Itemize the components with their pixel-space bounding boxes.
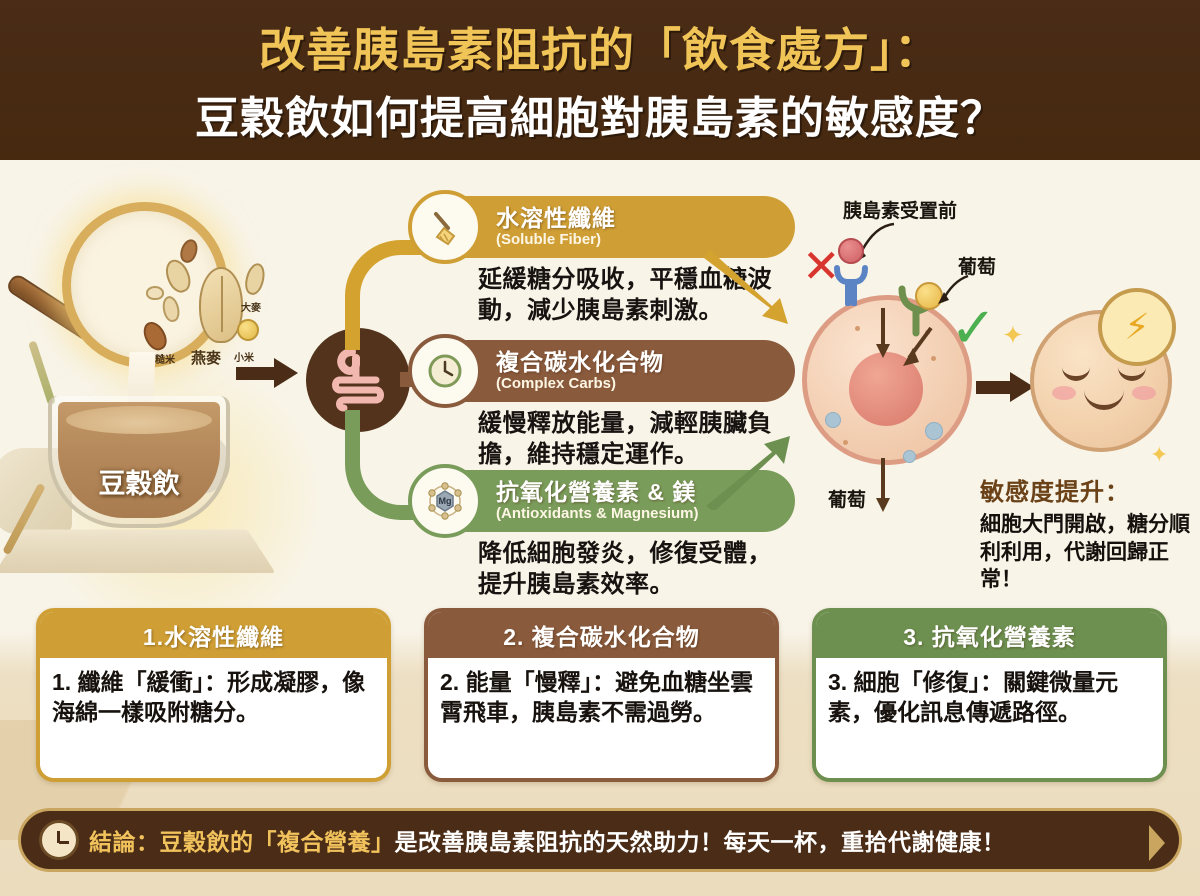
insulin-molecule-icon: [838, 238, 864, 264]
lightning-bolt-icon: ⚡: [1098, 288, 1176, 366]
pathway-title-zh: 水溶性纖維: [496, 206, 616, 230]
glucose-pointer-icon: [930, 274, 974, 308]
label-barley: 大麥: [241, 299, 261, 314]
vesicle-icon: [825, 412, 841, 428]
result-text-block: 敏感度提升： 細胞大門開啟，糖分順利利用，代謝回歸正常！: [980, 472, 1195, 594]
page-header: 改善胰島素阻抗的「飲食處方」： 豆穀飲如何提高細胞對胰島素的敏感度？: [0, 0, 1200, 160]
main-flow-arrow-icon: [236, 358, 298, 388]
result-arrow-icon: [976, 372, 1034, 402]
alarm-clock-icon: [39, 820, 79, 860]
clock-icon: [408, 334, 482, 408]
label-brown-rice: 糙米: [155, 351, 175, 366]
broom-icon: [408, 190, 482, 264]
summary-card-1[interactable]: 1.水溶性纖維 1. 纖維「緩衝」：形成凝膠，像海綿一樣吸附糖分。: [36, 608, 391, 782]
pathway-title-zh: 複合碳水化合物: [496, 350, 664, 374]
napkin: [0, 530, 276, 574]
conclusion-arrow-icon: [1149, 825, 1165, 861]
vesicle-icon: [925, 422, 943, 440]
wheat-stalk-icon: [28, 340, 56, 405]
insulin-receptor-blocked-icon: [834, 262, 868, 306]
pathway-title-en: (Antioxidants & Magnesium): [496, 506, 699, 522]
conclusion-part1: 結論：豆穀飲的: [89, 829, 254, 855]
pathway-title-en: (Soluble Fiber): [496, 232, 616, 248]
insulin-receptor-label: 胰島素受置前: [843, 196, 957, 223]
grain-icon-c: [160, 295, 181, 324]
grain-icon-d: [178, 237, 201, 265]
label-oats: 燕麥: [191, 347, 221, 368]
card-heading: 3. 抗氧化營養素: [816, 612, 1163, 658]
beverage-illustration: 糙米 燕麥 小米 大麥 豆穀飲: [0, 180, 330, 600]
card-body: 1. 纖維「緩衝」：形成凝膠，像海綿一樣吸附糖分。: [40, 658, 387, 778]
header-title-line1: 改善胰島素阻抗的「飲食處方」：: [259, 14, 941, 80]
grain-icon-b: [146, 286, 164, 300]
glucose-exit-arrow-icon: [873, 458, 893, 514]
infographic-page: 改善胰島素阻抗的「飲食處方」： 豆穀飲如何提高細胞對胰島素的敏感度？ 糙米 燕麥…: [0, 0, 1200, 896]
result-body: 細胞大門開啟，糖分順利利用，代謝回歸正常！: [980, 511, 1195, 594]
cup-foam: [66, 406, 212, 434]
magnesium-molecule-icon: Mg: [408, 464, 482, 538]
sparkle-icon: ✦: [1150, 442, 1168, 468]
sparkle-icon: ✦: [1002, 320, 1024, 351]
summary-card-2[interactable]: 2. 複合碳水化合物 2. 能量「慢釋」：避免血糖坐雲霄飛車，胰島素不需過勞。: [424, 608, 779, 782]
card-body: 2. 能量「慢釋」：避免血糖坐雲霄飛車，胰島素不需過勞。: [428, 658, 775, 778]
vesicle-icon: [903, 450, 916, 463]
uptake-arrow-icon: [873, 308, 893, 360]
glucose-label-bottom: 葡萄: [828, 485, 866, 512]
pathway-title-zh: 抗氧化營養素 & 鎂: [496, 480, 699, 504]
pathway-description: 降低細胞發炎，修復受體，提升胰島素效率。: [478, 539, 790, 600]
conclusion-part3: 是改善胰島素阻抗的天然助力！每天一杯，重拾代謝健康！: [395, 829, 1006, 855]
brown-rice-grain-icon: [139, 318, 171, 354]
conclusion-bar: 結論：豆穀飲的「複合營養」是改善胰島素阻抗的天然助力！每天一杯，重拾代謝健康！: [18, 808, 1182, 872]
magnifier-lens: 糙米 燕麥 小米 大麥: [62, 202, 228, 368]
cup-label: 豆穀飲: [48, 462, 230, 501]
barley-grain-icon: [242, 261, 267, 296]
header-title-line2: 豆穀飲如何提高細胞對胰島素的敏感度？: [195, 82, 1005, 146]
conclusion-text: 結論：豆穀飲的「複合營養」是改善胰島素阻抗的天然助力！每天一杯，重拾代謝健康！: [89, 823, 1006, 857]
result-title: 敏感度提升：: [980, 472, 1195, 507]
summary-cards: 1.水溶性纖維 1. 纖維「緩衝」：形成凝膠，像海綿一樣吸附糖分。 2. 複合碳…: [0, 608, 1200, 790]
card-heading: 2. 複合碳水化合物: [428, 612, 775, 658]
cell-body: [802, 295, 972, 465]
svg-text:Mg: Mg: [439, 496, 452, 506]
allowed-mark-icon: ✓: [950, 308, 997, 348]
millet-grain-icon: [237, 319, 259, 341]
summary-card-3[interactable]: 3. 抗氧化營養素 3. 細胞「修復」：關鍵微量元素，優化訊息傳遞路徑。: [812, 608, 1167, 782]
conclusion-part2: 「複合營養」: [254, 829, 395, 855]
card-heading: 1.水溶性纖維: [40, 612, 387, 658]
pathway-pill-soluble-fiber[interactable]: 水溶性纖維 (Soluble Fiber): [420, 196, 795, 258]
card-body: 3. 細胞「修復」：關鍵微量元素，優化訊息傳遞路徑。: [816, 658, 1163, 778]
pathway-title-en: (Complex Carbs): [496, 376, 664, 392]
